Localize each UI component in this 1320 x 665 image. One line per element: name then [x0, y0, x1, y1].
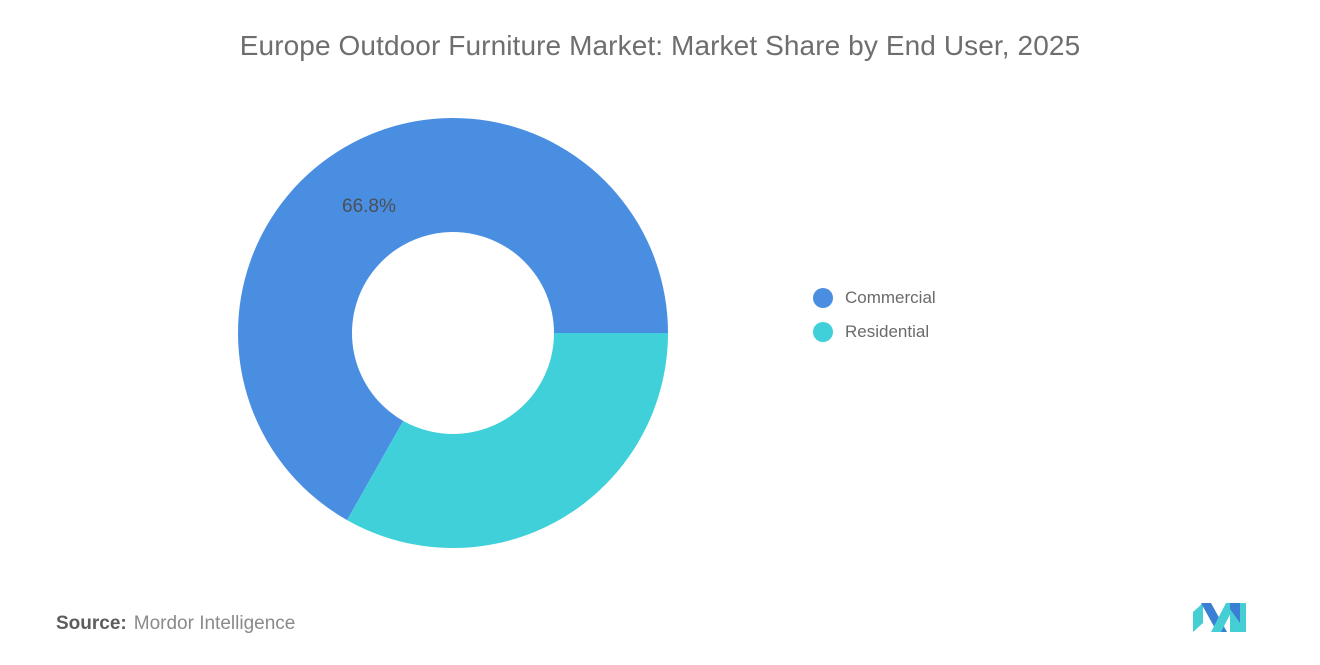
legend-swatch-residential-icon	[813, 322, 833, 342]
legend-item-commercial[interactable]: Commercial	[813, 287, 936, 308]
chart-legend: Commercial Residential	[813, 287, 936, 342]
legend-label-residential: Residential	[845, 323, 929, 340]
source-label: Source:	[56, 613, 127, 634]
legend-label-commercial: Commercial	[845, 289, 936, 306]
source-line: Source:Mordor Intelligence	[56, 613, 295, 635]
source-value: Mordor Intelligence	[134, 613, 296, 634]
donut-chart-svg	[238, 118, 668, 548]
legend-swatch-commercial-icon	[813, 288, 833, 308]
donut-chart: 66.8%	[238, 118, 668, 548]
legend-item-residential[interactable]: Residential	[813, 321, 936, 342]
donut-hole	[352, 232, 554, 434]
donut-slice-label-commercial: 66.8%	[342, 196, 396, 218]
page-title: Europe Outdoor Furniture Market: Market …	[0, 30, 1320, 62]
mordor-intelligence-logo-icon	[1189, 599, 1251, 637]
